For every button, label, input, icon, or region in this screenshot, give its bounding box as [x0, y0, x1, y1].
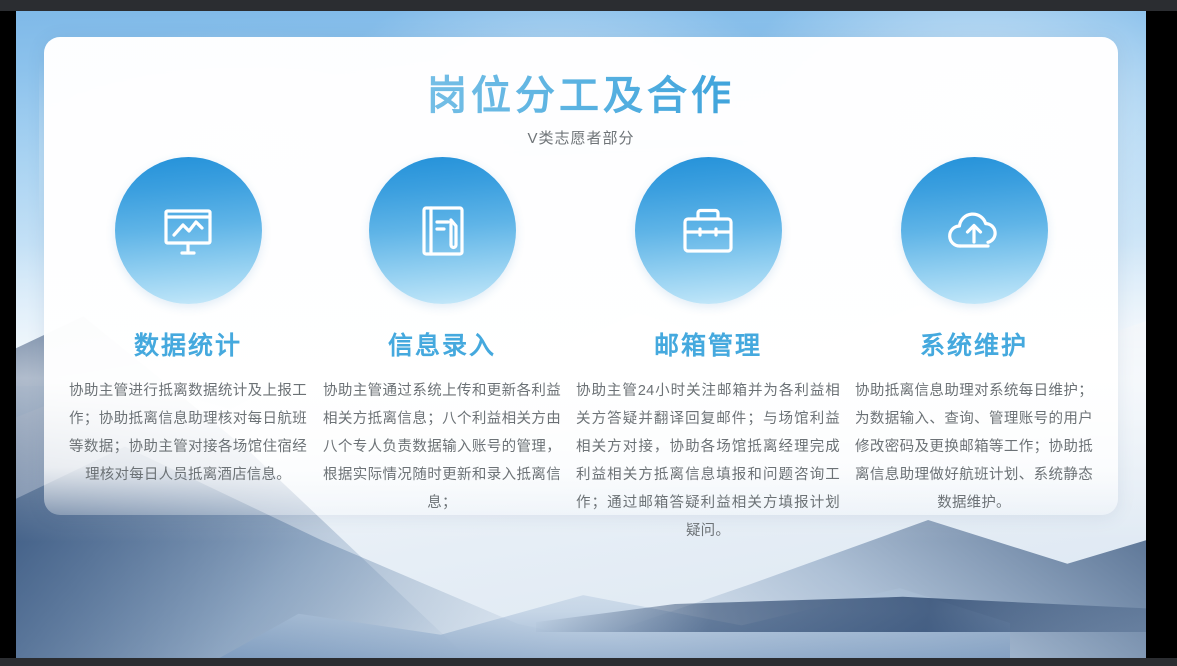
icon-circle-data-statistics — [115, 157, 262, 304]
viewer-bottom-bar — [0, 658, 1177, 666]
column-title: 系统维护 — [920, 326, 1028, 362]
column-information-entry: 信息录入 协助主管通过系统上传和更新各利益相关方抵离信息；八个利益相关方由八个专… — [316, 157, 568, 546]
column-body: 协助主管24小时关注邮箱并为各利益相关方答疑并翻译回复邮件；与场馆利益相关方对接… — [576, 378, 840, 546]
briefcase-icon — [672, 195, 744, 267]
content-card: 岗位分工及合作 V类志愿者部分 — [44, 37, 1118, 515]
viewer-left-letterbox — [0, 11, 16, 658]
column-title: 数据统计 — [134, 326, 242, 362]
column-body: 协助主管通过系统上传和更新各利益相关方抵离信息；八个利益相关方由八个专人负责数据… — [323, 378, 561, 518]
viewer-right-letterbox — [1146, 11, 1177, 658]
presentation-slide: 岗位分工及合作 V类志愿者部分 — [16, 11, 1146, 658]
columns-container: 数据统计 协助主管进行抵离数据统计及上报工作；协助抵离信息助理核对每日航班等数据… — [62, 157, 1100, 546]
column-data-statistics: 数据统计 协助主管进行抵离数据统计及上报工作；协助抵离信息助理核对每日航班等数据… — [62, 157, 314, 546]
notebook-pen-icon — [406, 195, 478, 267]
slide-viewer: 岗位分工及合作 V类志愿者部分 — [0, 0, 1177, 666]
column-title: 信息录入 — [388, 326, 496, 362]
icon-circle-information-entry — [369, 157, 516, 304]
viewer-top-bar — [0, 0, 1177, 11]
cloud-upload-icon — [938, 195, 1010, 267]
column-body: 协助抵离信息助理对系统每日维护；为数据输入、查询、管理账号的用户修改密码及更换邮… — [855, 378, 1093, 518]
column-body: 协助主管进行抵离数据统计及上报工作；协助抵离信息助理核对每日航班等数据；协助主管… — [69, 378, 307, 490]
presentation-chart-icon — [152, 195, 224, 267]
column-title: 邮箱管理 — [654, 326, 762, 362]
icon-circle-system-maintenance — [901, 157, 1048, 304]
icon-circle-mailbox-management — [635, 157, 782, 304]
page-subtitle: V类志愿者部分 — [44, 127, 1118, 148]
column-system-maintenance: 系统维护 协助抵离信息助理对系统每日维护；为数据输入、查询、管理账号的用户修改密… — [848, 157, 1100, 546]
page-title: 岗位分工及合作 — [44, 63, 1118, 121]
column-mailbox-management: 邮箱管理 协助主管24小时关注邮箱并为各利益相关方答疑并翻译回复邮件；与场馆利益… — [570, 157, 846, 546]
